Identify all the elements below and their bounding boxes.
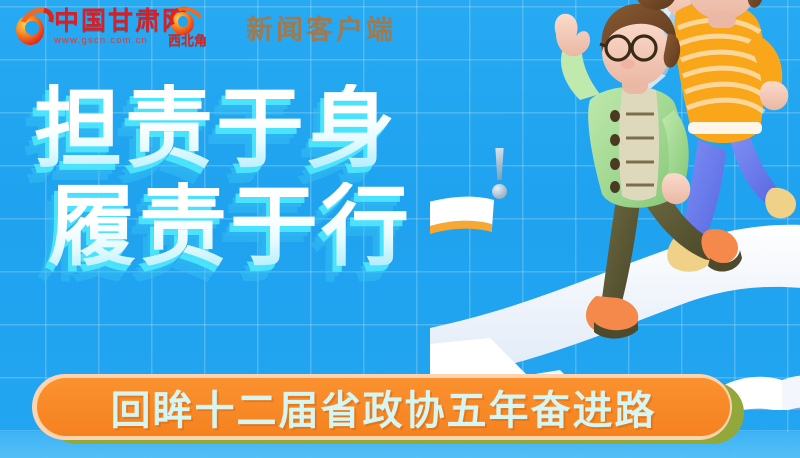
banner-pill[interactable]: 回眸十二届省政协五年奋进路 xyxy=(37,378,730,436)
gscn-logo[interactable]: 中国甘肃网 www.gscn.com.cn xyxy=(14,7,189,47)
headline-line-1: 担责于身 xyxy=(34,84,504,174)
bottom-banner[interactable]: 回眸十二届省政协五年奋进路 xyxy=(32,374,744,444)
headline-block: 担责于身 履责于行 xyxy=(34,84,504,272)
northwest-corner-logo-icon: 西北角 xyxy=(168,6,198,48)
app-logo[interactable]: 西北角 新闻客户端 xyxy=(168,6,396,48)
exclamation-mark-icon xyxy=(489,148,511,204)
poster-canvas: 中国甘肃网 www.gscn.com.cn 西北角 新闻客户端 xyxy=(0,0,800,458)
banner-text: 回眸十二届省政协五年奋进路 xyxy=(111,378,657,436)
flame-logo-icon xyxy=(14,7,48,47)
headline-line-2: 履责于行 xyxy=(48,182,504,272)
app-logo-name: 新闻客户端 xyxy=(246,8,396,47)
app-logo-subname: 西北角 xyxy=(168,30,206,49)
